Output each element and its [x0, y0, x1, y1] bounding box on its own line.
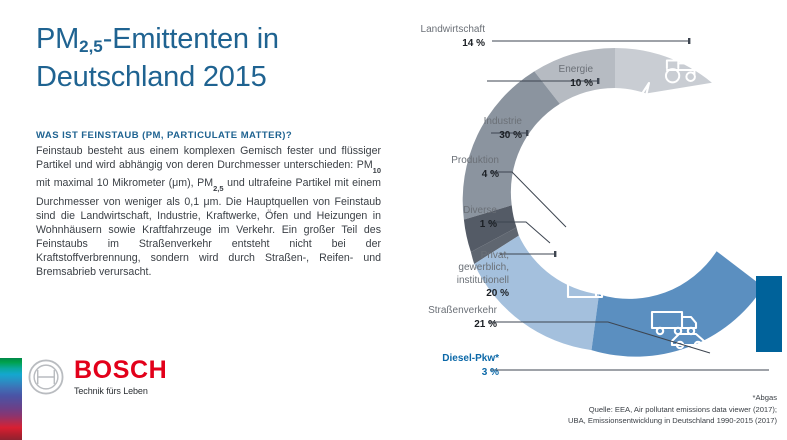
- page-title-subscript: 2,5: [79, 37, 103, 56]
- callout-energie-label: Energie: [559, 64, 593, 75]
- intro-sub-25: 2,5: [213, 184, 223, 193]
- intro-paragraph: Feinstaub besteht aus einem komplexen Ge…: [36, 144, 381, 279]
- callout-industrie-label: Industrie: [484, 116, 522, 127]
- callout-landwirtschaft: Landwirtschaft 14 %: [345, 24, 485, 50]
- callout-diesel-pkw-label: Diesel-Pkw*: [442, 353, 499, 364]
- segment-landwirtschaft[interactable]: [615, 48, 712, 94]
- segment-strassenverkehr[interactable]: [592, 251, 764, 356]
- intro-part-a: Feinstaub besteht aus einem komplexen Ge…: [36, 145, 381, 171]
- donut-segments: [463, 48, 782, 357]
- callout-diverse: Diverse 1 %: [357, 205, 497, 231]
- callout-landwirtschaft-label: Landwirtschaft: [421, 24, 485, 35]
- callout-diverse-label: Diverse: [463, 205, 497, 216]
- footnote-abgas: *Abgas: [568, 392, 777, 403]
- intro-part-c: und ultrafeine Partikel mit einem Durchm…: [36, 177, 381, 278]
- callout-energie-value: 10 %: [453, 78, 593, 91]
- text-column: PM2,5-Emittenten inDeutschland 2015 WAS …: [36, 22, 381, 279]
- segment-diesel-pkw[interactable]: [756, 276, 782, 352]
- callout-strassenverkehr-value: 21 %: [337, 319, 497, 332]
- callout-strassenverkehr: Straßenverkehr 21 %: [337, 305, 497, 331]
- chart-footnotes: *Abgas Quelle: EEA, Air pollutant emissi…: [568, 392, 777, 426]
- infographic-canvas: PM2,5-Emittenten inDeutschland 2015 WAS …: [0, 0, 787, 440]
- bosch-anchor-icon: [28, 359, 64, 395]
- callout-industrie-value: 30 %: [382, 130, 522, 143]
- callout-diesel-pkw: Diesel-Pkw* 3 %: [339, 353, 499, 379]
- callout-produktion: Produktion 4 %: [359, 155, 499, 181]
- gear-icon: [556, 218, 573, 235]
- callout-landwirtschaft-value: 14 %: [345, 38, 485, 51]
- callout-produktion-label: Produktion: [451, 155, 499, 166]
- page-title-rest: -Emittenten in: [103, 23, 279, 55]
- section-subheading: WAS IST FEINSTAUB (PM, PARTICULATE MATTE…: [36, 130, 381, 141]
- factory-icon: [578, 143, 606, 173]
- callout-privat: Privat, gewerblich, institutionell 20 %: [369, 237, 509, 313]
- intro-part-b: mit maximal 10 Mikrometer (μm), PM: [36, 177, 213, 189]
- page-title: PM2,5-Emittenten inDeutschland 2015: [36, 22, 381, 94]
- source-line-2: UBA, Emissionsentwicklung in Deutschland…: [568, 416, 777, 425]
- callout-strassenverkehr-label: Straßenverkehr: [428, 305, 497, 316]
- callout-diesel-pkw-value: 3 %: [339, 367, 499, 380]
- bosch-wordmark: BOSCH: [74, 358, 167, 383]
- callout-diverse-value: 1 %: [357, 219, 497, 232]
- callout-privat-label: Privat, gewerblich, institutionell: [457, 250, 509, 286]
- bosch-claim: Technik fürs Leben: [74, 386, 167, 396]
- callout-industrie: Industrie 30 %: [382, 116, 522, 142]
- source-line-1: Quelle: EEA, Air pollutant emissions dat…: [589, 405, 777, 414]
- segment-industrie[interactable]: [463, 71, 560, 219]
- bosch-supergraphic: [0, 358, 22, 440]
- bosch-wordmark-block: BOSCH Technik fürs Leben: [74, 358, 167, 396]
- page-title-line2: Deutschland 2015: [36, 61, 267, 93]
- callout-produktion-value: 4 %: [359, 169, 499, 182]
- page-title-pm: PM: [36, 23, 79, 55]
- plus-circle-icon: [587, 219, 605, 237]
- callout-energie: Energie 10 %: [453, 64, 593, 90]
- bosch-logo: BOSCH Technik fürs Leben: [28, 358, 167, 396]
- donut-chart: Landwirtschaft 14 % Energie 10 % Industr…: [390, 0, 787, 440]
- callout-privat-value: 20 %: [369, 288, 509, 301]
